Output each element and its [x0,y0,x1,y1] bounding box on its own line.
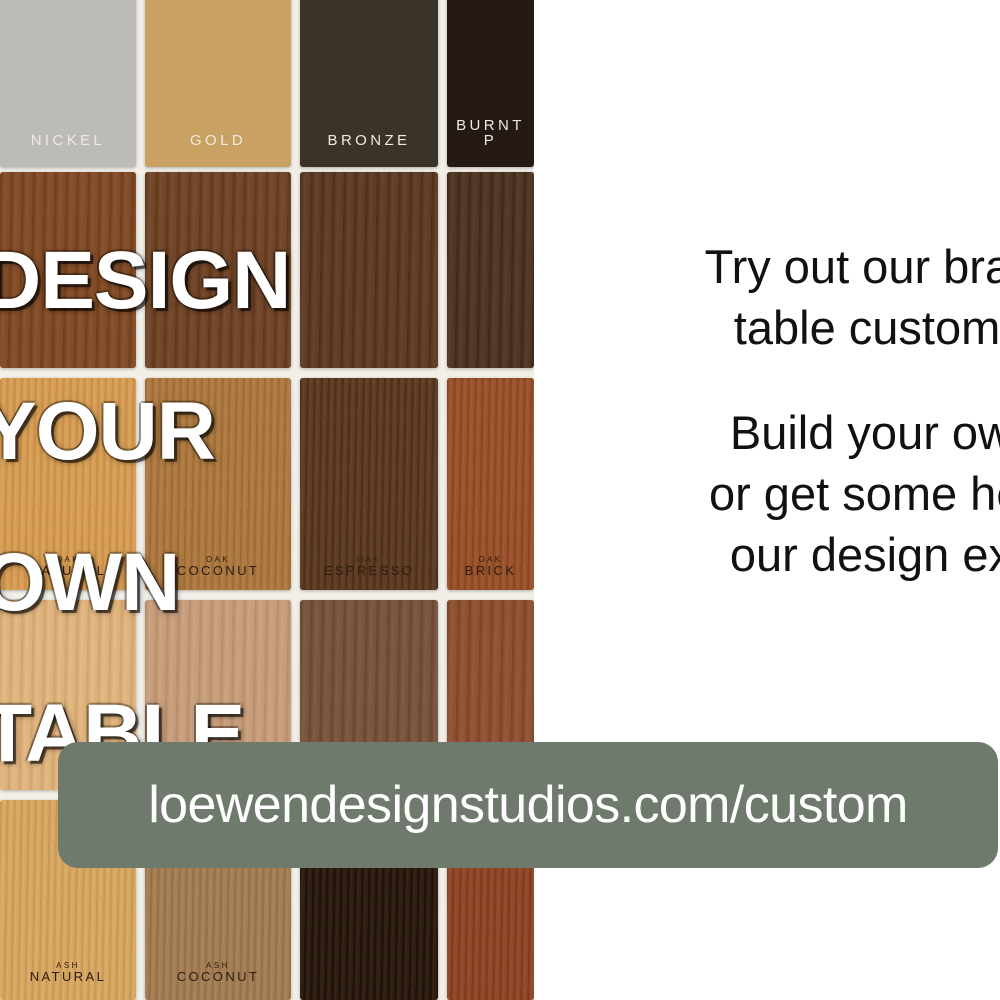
copy-paragraph-1: Try out our brand table customiz [534,236,1000,358]
swatch-label: BURNT P [447,118,534,150]
headline-line-1: DESIGN [0,243,452,318]
ad-creative: NICKELGOLDBRONZEBURNT P OAKNATURALOAKCOC… [0,0,1000,1000]
metal-finish-row: NICKELGOLDBRONZEBURNT P [0,0,534,167]
material-swatch: GOLD [145,0,291,167]
material-swatch: NICKEL [0,0,136,167]
copy-p1-line-1: Try out our brand [534,236,1000,297]
swatch-label: BRONZE [300,133,438,149]
copy-p2-line-2: or get some help [534,463,1000,524]
website-url-banner[interactable]: loewendesignstudios.com/custom [58,742,998,868]
headline-line-2: YOUR [0,394,452,469]
website-url-text: loewendesignstudios.com/custom [148,775,908,835]
swatch-label: ASHCOCONUT [145,962,291,984]
swatch-finish-label: NATURAL [0,970,136,984]
marketing-copy: Try out our brand table customiz Build y… [534,236,1000,585]
material-swatch: OAKBRICK [447,378,534,590]
material-swatch [447,172,534,368]
swatch-label: ASHNATURAL [0,962,136,984]
swatch-finish-label: COCONUT [145,970,291,984]
copy-p2-line-3: our design exp [534,524,1000,585]
swatch-label: NICKEL [0,133,136,149]
copy-p1-line-2: table customiz [534,297,1000,358]
copy-spacer [534,358,1000,402]
material-swatch: BRONZE [300,0,438,167]
wood-grain-texture [447,172,534,368]
swatch-finish-label: BRICK [447,564,534,578]
swatch-label: OAKBRICK [447,556,534,578]
material-swatch: BURNT P [447,0,534,167]
copy-p2-line-1: Build your own [534,402,1000,463]
copy-paragraph-2: Build your own or get some help our desi… [534,402,1000,585]
headline-line-3: OWN [0,545,452,620]
swatch-label: GOLD [145,133,291,149]
